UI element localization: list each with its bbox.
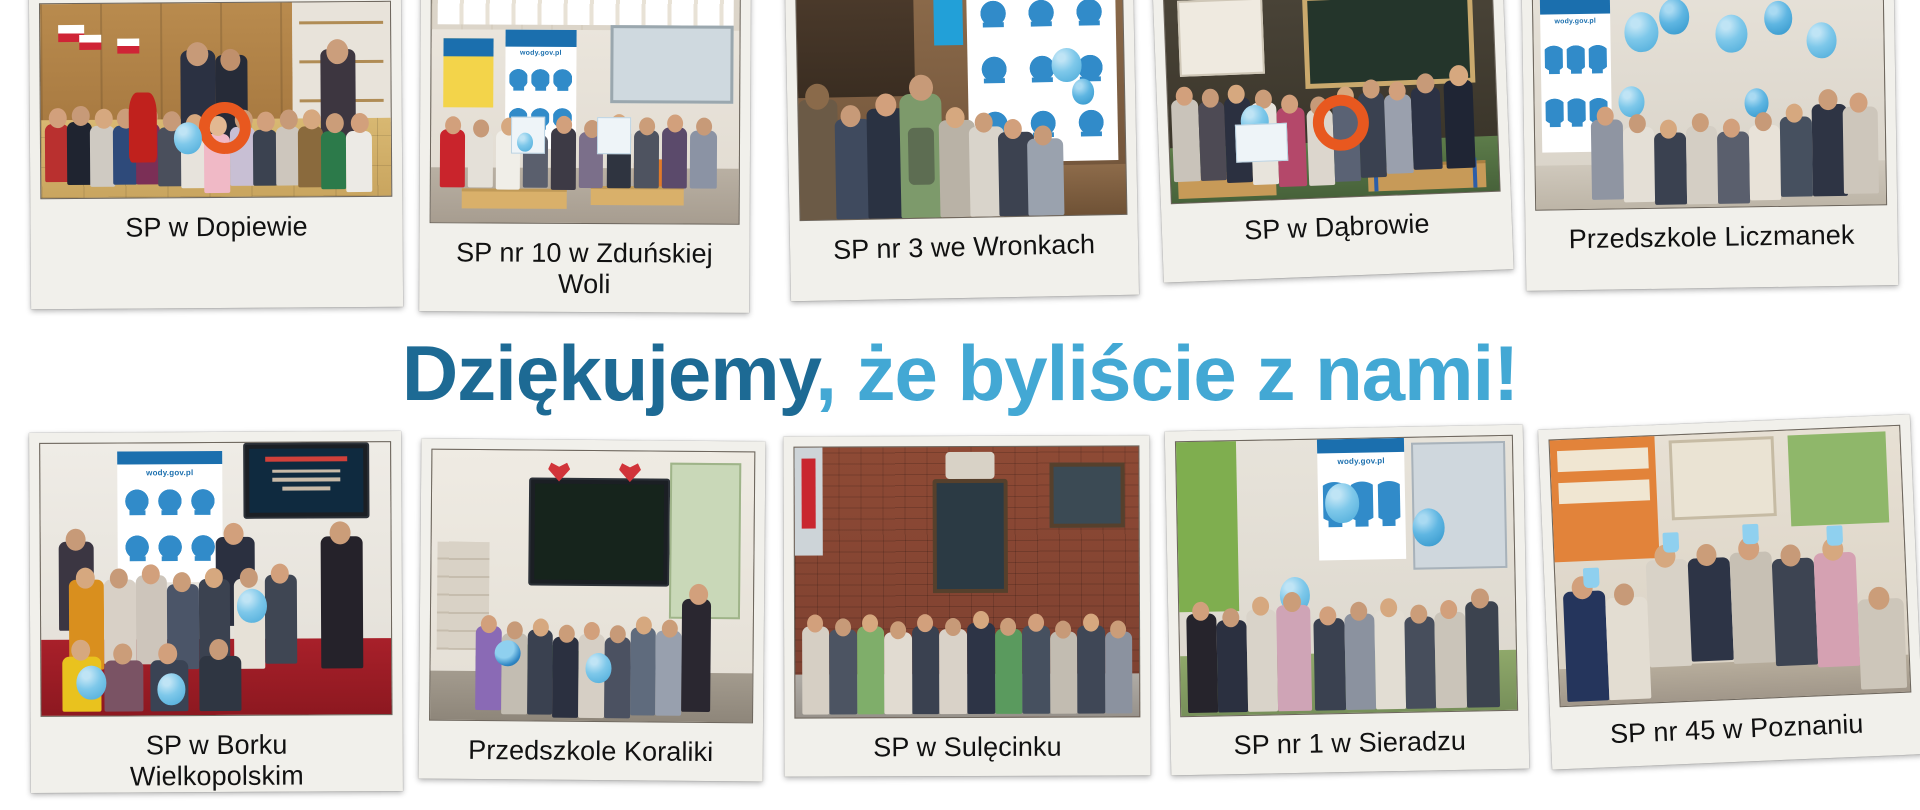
page-title: Dziękujemy, że byliście z nami!	[0, 334, 1920, 412]
photo-dopiewie	[39, 1, 392, 199]
polaroid-card-dabrowa[interactable]: SP w Dąbrowie	[1152, 0, 1513, 283]
polaroid-card-liczmanek[interactable]: wody.gov.pl	[1522, 0, 1899, 291]
photo-collage: SP w Dopiewie wody.gov.pl	[0, 0, 1920, 810]
photo-poznan	[1548, 425, 1911, 708]
polaroid-card-koraliki[interactable]: Przedszkole Koraliki	[419, 439, 766, 782]
headline-part-dark: Dziękujemy	[402, 329, 815, 417]
polaroid-card-zdunska-wola[interactable]: wody.gov.pl	[419, 0, 751, 313]
top-photo-row: SP w Dopiewie wody.gov.pl	[0, 0, 1920, 322]
photo-sieradz: wody.gov.pl	[1175, 435, 1518, 717]
caption-borek: SP w Borku Wielkopolskim	[41, 716, 393, 793]
photo-koraliki	[429, 449, 755, 724]
photo-wronki	[795, 0, 1127, 221]
caption-wronki: SP nr 3 we Wronkach	[799, 214, 1128, 266]
photo-zdunska-wola: wody.gov.pl	[430, 0, 741, 225]
photo-liczmanek: wody.gov.pl	[1532, 0, 1887, 211]
caption-koraliki: Przedszkole Koraliki	[429, 721, 753, 769]
polaroid-card-wronki[interactable]: SP nr 3 we Wronkach	[785, 0, 1139, 301]
caption-sulecinek: SP w Sulęcinku	[794, 717, 1140, 763]
photo-sulecinek	[793, 445, 1140, 718]
photo-borek: wody.gov.pl	[39, 441, 392, 717]
caption-dopiewie: SP w Dopiewie	[40, 197, 392, 244]
caption-zdunska-wola: SP nr 10 w Zduńskiej Woli	[429, 223, 739, 300]
polaroid-card-sieradz[interactable]: wody.gov.pl	[1165, 425, 1530, 776]
polaroid-card-dopiewie[interactable]: SP w Dopiewie	[29, 0, 403, 309]
bottom-photo-row: wody.gov.pl	[0, 432, 1920, 810]
polaroid-card-sulecinek[interactable]: SP w Sulęcinku	[783, 435, 1150, 776]
caption-sieradz: SP nr 1 w Sieradzu	[1180, 711, 1519, 762]
caption-liczmanek: Przedszkole Liczmanek	[1535, 205, 1888, 255]
polaroid-card-poznan[interactable]: SP nr 45 w Poznaniu	[1538, 414, 1920, 769]
headline-part-light-1: , że	[815, 329, 937, 417]
polaroid-card-borek[interactable]: wody.gov.pl	[29, 431, 403, 793]
photo-dabrowa	[1163, 0, 1501, 204]
headline-part-light-2: byliście z nami!	[937, 329, 1518, 417]
